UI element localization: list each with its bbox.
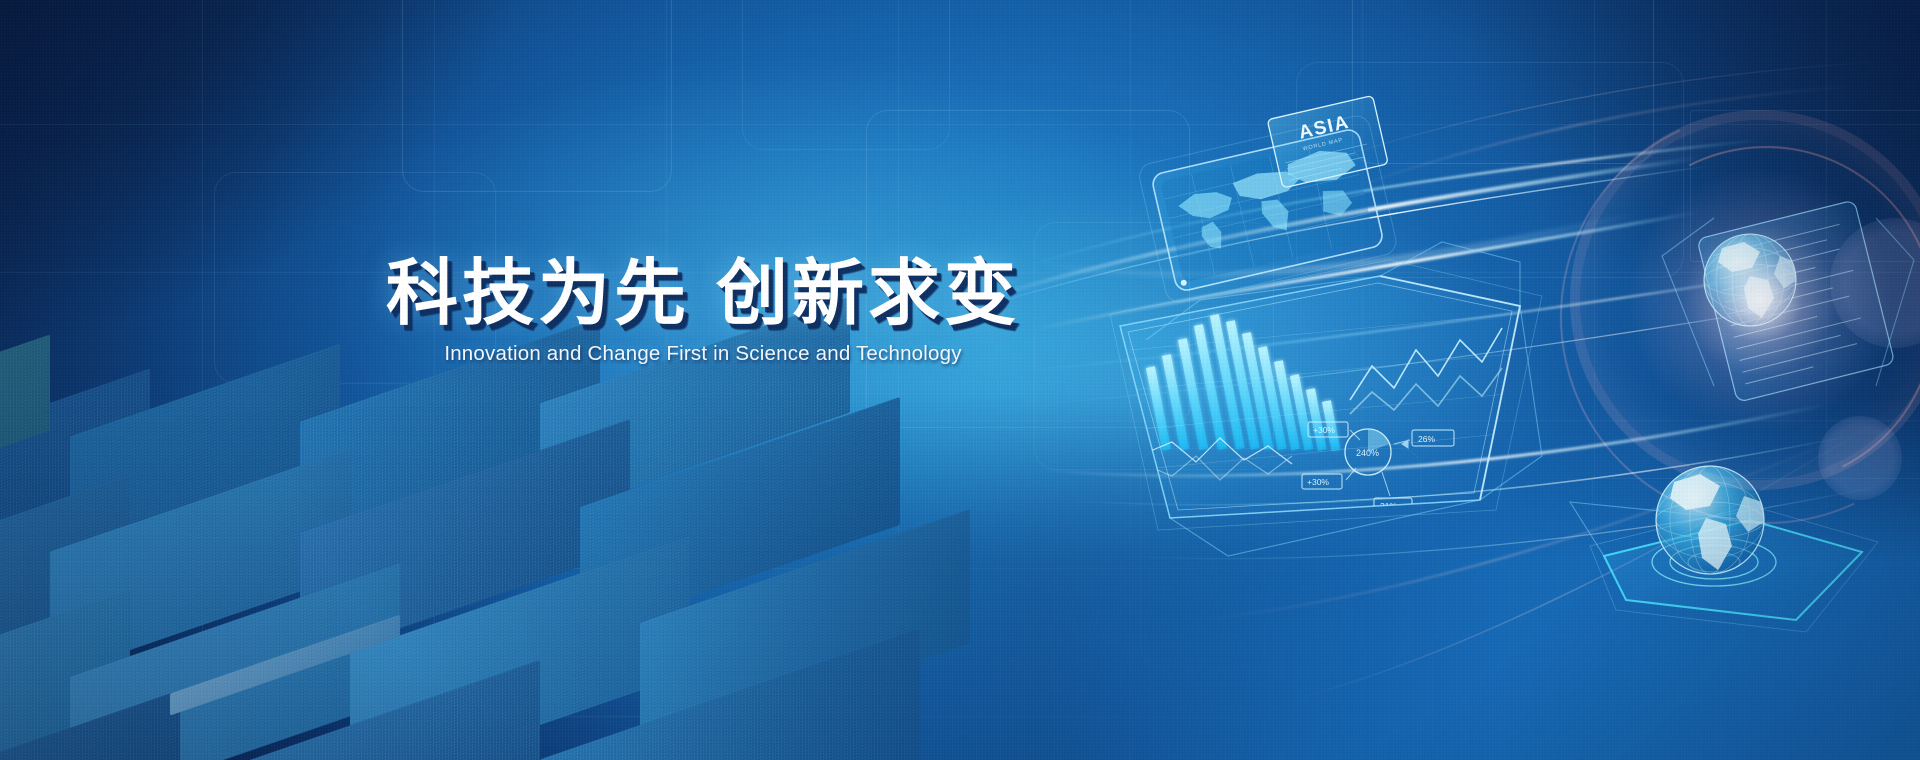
- pie-center-label: 240%: [1356, 448, 1379, 458]
- pie-label-0: +30%: [1313, 425, 1335, 435]
- tech-banner: ASIA WORLD MAP: [0, 0, 1920, 760]
- page-title: 科技为先创新求变: [383, 258, 1023, 330]
- asia-label-plate: ASIA WORLD MAP: [1267, 96, 1388, 189]
- title-part-2: 创新求变: [716, 254, 1020, 334]
- headline-block: 科技为先创新求变 Innovation and Change First in …: [383, 258, 1023, 365]
- analytics-panel: 240% +30% +30% 26% 21%: [1120, 276, 1520, 518]
- title-part-1: 科技为先: [386, 254, 690, 334]
- world-map-panel: ASIA WORLD MAP: [1144, 96, 1405, 293]
- pie-label-2: 26%: [1418, 434, 1435, 444]
- isometric-grain-overlay: [0, 380, 1060, 760]
- page-subtitle: Innovation and Change First in Science a…: [383, 344, 1023, 365]
- pie-label-1: +30%: [1307, 477, 1329, 487]
